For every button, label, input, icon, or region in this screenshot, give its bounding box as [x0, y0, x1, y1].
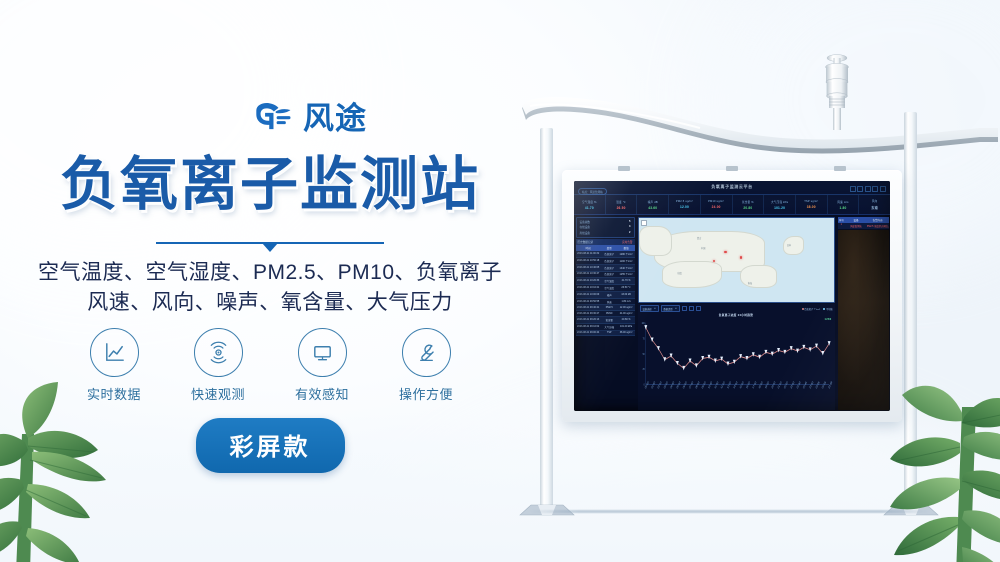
metric-card[interactable]: PM10 ug/m³ 24.00 — [701, 195, 733, 214]
metric-card[interactable]: 风向 东南 — [859, 195, 890, 214]
table-cell: 2023-08-21 10:20:33 — [576, 278, 601, 284]
svg-text:22:00: 22:00 — [783, 380, 789, 390]
ultrasonic-weather-sensor — [820, 52, 854, 132]
map-label: 南海 — [748, 281, 752, 285]
metric-value: 101.20 — [774, 206, 785, 210]
svg-text:11:00: 11:00 — [713, 380, 719, 390]
table-row[interactable]: 2023-08-21 11:00:32负氧离子1280 个/cm³ — [576, 251, 635, 258]
svg-text:100: 100 — [641, 321, 645, 325]
table-cell: 噪声 — [601, 292, 618, 298]
display-enclosure: 负氧离子监测云平台 站点：风途监测站 空气湿度 % — [562, 170, 902, 422]
support-post-right — [904, 112, 917, 506]
table-cell: 24.00 ug/m³ — [618, 311, 635, 316]
table-cell: 2023-08-21 10:30:47 — [576, 272, 601, 278]
layout-icon[interactable] — [857, 186, 863, 192]
fullscreen-icon[interactable] — [850, 186, 856, 192]
table-cell: 12.00 ug/m³ — [618, 305, 635, 310]
map-landmass-southeast — [740, 265, 777, 289]
line-chart-icon — [90, 328, 139, 377]
feature-item-effective-sensing[interactable]: 有效感知 — [283, 328, 361, 403]
table-cell: 2023-08-21 11:00:32 — [576, 251, 601, 257]
feature-item-realtime-data[interactable]: 实时数据 — [75, 328, 153, 403]
table-cell: 负氧离子 — [601, 251, 618, 257]
map-label: 日本 — [787, 243, 791, 247]
page-title: 负氧离子监测站 — [0, 155, 540, 216]
export-icon[interactable] — [689, 306, 694, 311]
table-cell: 负氧离子 — [601, 265, 618, 271]
divider-notch-icon — [262, 243, 278, 252]
model-badge-wrapper: 彩屏款 — [0, 418, 540, 473]
table-cell: 2023-08-21 09:00:44 — [576, 331, 601, 336]
svg-text:00:00: 00:00 — [644, 380, 650, 390]
feature-item-easy-operation[interactable]: 操作方便 — [387, 328, 465, 403]
header-tools — [850, 186, 886, 192]
table-row[interactable]: 2023-08-21 10:50:18负氧离子1196 个/cm³ — [576, 258, 635, 265]
metric-value: 1.80 — [839, 206, 846, 210]
metric-label: 氧含量 % — [742, 200, 754, 204]
chart-icon[interactable] — [865, 186, 871, 192]
dashboard-right-column: 序号 设备 告警内容 1 风途监测站 PM2.5 浓度超过阈值，请注意 — [836, 215, 890, 411]
stat-value: 2 — [629, 231, 630, 235]
feature-label: 快速观测 — [191, 384, 245, 403]
metric-value: 26.50 — [617, 206, 626, 210]
svg-text:04:00: 04:00 — [669, 380, 675, 390]
table-row[interactable]: 2023-08-21 10:20:33空气湿度41.70 % — [576, 278, 635, 285]
wrench-icon — [402, 328, 451, 377]
metric-card[interactable]: 空气湿度 % 41.70 — [574, 195, 606, 214]
s-curve-canopy — [500, 90, 1000, 160]
monitor-screen-icon — [298, 328, 347, 377]
hero-text-panel: 风途 负氧离子监测站 空气温度、空气湿度、PM2.5、PM10、负氧离子 风速、… — [0, 0, 540, 562]
metric-value: 20.80 — [743, 206, 752, 210]
legend-item-average: 平均值 — [823, 307, 832, 311]
svg-text:20:00: 20:00 — [770, 380, 776, 390]
svg-text:09:00: 09:00 — [700, 380, 706, 390]
stat-value: 3 — [629, 225, 630, 229]
table-cell: 2023-08-21 10:00:09 — [576, 292, 601, 298]
realtime-alarm-tag[interactable]: 实时告警 — [622, 240, 632, 244]
stat-row: 离线设备 2 — [580, 231, 631, 235]
alert-index: 1 — [838, 223, 846, 229]
device-select-label: 设备选择 — [643, 307, 652, 311]
brand-name: 风途 — [303, 103, 367, 134]
trend-line-chart: 00:0001:0002:0003:0004:0005:0006:0007:00… — [640, 318, 833, 405]
stat-value: 5 — [629, 220, 630, 224]
feature-list: 实时数据 快速观测 — [0, 328, 540, 403]
svg-text:23:45: 23:45 — [802, 380, 808, 390]
metric-label: 风速 m/s — [837, 200, 848, 204]
svg-text:50: 50 — [642, 352, 645, 356]
station-selector[interactable]: 站点：风途监测站 — [578, 188, 607, 195]
metric-card[interactable]: PM2.5 ug/m³ 12.00 — [669, 195, 701, 214]
table-cell: 2023-08-21 09:40:41 — [576, 305, 601, 310]
display-screen[interactable]: 负氧离子监测云平台 站点：风途监测站 空气湿度 % — [574, 181, 890, 411]
metric-value: 43.60 — [648, 206, 657, 210]
svg-text:13:00: 13:00 — [726, 380, 732, 390]
table-cell: 空气温度 — [601, 285, 618, 291]
chevron-down-icon: ▾ — [675, 307, 676, 311]
legend-item-series: 负氧离子 个/cm³ — [802, 307, 821, 311]
svg-text:17:00: 17:00 — [751, 380, 757, 390]
table-cell: 1.80 m/s — [618, 299, 635, 305]
table-cell: 1280 个/cm³ — [618, 251, 635, 257]
table-cell: 1340 个/cm³ — [618, 265, 635, 271]
dashboard-center-column: 中国 蒙古 印度 日本 南海 — [636, 215, 836, 411]
dashboard: 负氧离子监测云平台 站点：风途监测站 空气湿度 % — [574, 181, 890, 411]
metric-label: PM10 ug/m³ — [708, 200, 724, 203]
table-row[interactable]: 2023-08-21 10:40:05负氧离子1340 个/cm³ — [576, 265, 635, 272]
wind-leaf-g-icon — [248, 100, 296, 136]
table-cell: 20.80 % — [618, 317, 635, 323]
title-divider — [0, 240, 540, 254]
metric-label: 温度 ℃ — [616, 200, 626, 204]
feature-label: 实时数据 — [87, 384, 141, 403]
dashboard-title: 负氧离子监测云平台 — [574, 184, 890, 190]
stat-row: 设备总数 5 — [580, 220, 631, 224]
device-stats-box: 设备总数 5 在线设备 3 离线设备 2 — [576, 217, 635, 238]
svg-text:23:50: 23:50 — [808, 380, 814, 390]
svg-text:21:00: 21:00 — [776, 380, 782, 390]
table-cell: 1196 个/cm³ — [618, 258, 635, 264]
metric-card[interactable]: 温度 ℃ 26.50 — [606, 195, 638, 214]
svg-text:03:00: 03:00 — [662, 380, 668, 390]
dashboard-header: 负氧离子监测云平台 站点：风途监测站 — [574, 181, 890, 195]
chart-plot-area: 1280 00:0001:0002:0003:0004:0005:0006:00… — [638, 317, 835, 410]
station-map[interactable]: 中国 蒙古 印度 日本 南海 — [638, 217, 835, 303]
camera-feed[interactable] — [838, 230, 889, 410]
history-table: 历史数据记录 实时告警 时间 类型 数值 2023-08-21 11:00:32… — [576, 239, 635, 409]
table-cell: 2023-08-21 10:50:18 — [576, 258, 601, 264]
table-cell: TSP — [601, 331, 618, 336]
svg-text:23:59: 23:59 — [827, 380, 833, 390]
svg-text:18:00: 18:00 — [757, 380, 763, 390]
map-label: 蒙古 — [697, 236, 701, 240]
table-cell: 101.20 kPa — [618, 324, 635, 330]
table-cell: 2023-08-21 10:40:05 — [576, 265, 601, 271]
table-cell: 大气压强 — [601, 324, 618, 330]
map-landmass-india — [662, 261, 723, 288]
table-row[interactable]: 2023-08-21 10:30:47负氧离子1255 个/cm³ — [576, 272, 635, 279]
table-cell: 氧含量 — [601, 317, 618, 323]
metric-label: 风向 — [872, 199, 878, 203]
stat-row: 在线设备 3 — [580, 225, 631, 229]
mount-bracket-left — [618, 166, 630, 171]
table-cell: 1255 个/cm³ — [618, 272, 635, 278]
table-cell: 空气湿度 — [601, 278, 618, 284]
svg-text:15:00: 15:00 — [738, 380, 744, 390]
stat-label: 设备总数 — [580, 220, 590, 224]
metric-card[interactable]: 风速 m/s 1.80 — [828, 195, 860, 214]
svg-text:05:00: 05:00 — [675, 380, 681, 390]
map-pin[interactable] — [740, 256, 742, 258]
svg-text:07:00: 07:00 — [688, 380, 694, 390]
map-landmass-west — [639, 226, 672, 257]
brand-logo: 风途 — [248, 100, 367, 136]
map-pin[interactable] — [713, 260, 715, 262]
metric-label: 噪声 dB — [648, 200, 658, 204]
metric-label: 空气湿度 % — [582, 200, 597, 204]
table-cell: 风速 — [601, 299, 618, 305]
table-row[interactable]: 2023-08-21 09:20:13氧含量20.80 % — [576, 317, 635, 324]
chart-legend: 负氧离子 个/cm³ 平均值 — [802, 307, 833, 311]
subtitle-line-2: 风速、风向、噪声、氧含量、大气压力 — [0, 288, 540, 318]
map-label: 中国 — [701, 246, 705, 250]
subtitle-line-1: 空气温度、空气湿度、PM2.5、PM10、负氧离子 — [0, 258, 540, 288]
stat-label: 在线设备 — [580, 225, 590, 229]
svg-text:12:00: 12:00 — [719, 380, 725, 390]
table-cell: 26.50 ℃ — [618, 285, 635, 291]
table-cell: 2023-08-21 09:30:27 — [576, 311, 601, 316]
user-icon[interactable] — [880, 186, 886, 192]
metric-label: PM2.5 ug/m³ — [676, 200, 693, 203]
metric-card[interactable]: TSP ug/m³ 38.00 — [796, 195, 828, 214]
table-cell: 43.60 dB — [618, 292, 635, 298]
svg-text:06:00: 06:00 — [681, 380, 687, 390]
ground-shadow-line — [530, 510, 930, 513]
svg-text:16:00: 16:00 — [745, 380, 751, 390]
model-badge[interactable]: 彩屏款 — [196, 418, 345, 473]
metric-value: 12.00 — [680, 205, 689, 209]
svg-text:19:00: 19:00 — [764, 380, 770, 390]
table-row[interactable]: 2023-08-21 10:10:21空气温度26.50 ℃ — [576, 285, 635, 292]
radar-scan-icon — [194, 328, 243, 377]
alert-row[interactable]: 1 风途监测站 PM2.5 浓度超过阈值，请注意 — [838, 223, 889, 229]
trend-chart-panel: 设备选择 ▾ 数据类型 ▾ — [638, 304, 835, 410]
chevron-down-icon: ▾ — [654, 307, 655, 311]
mount-bracket-center — [726, 166, 738, 171]
alert-device: 风途监测站 — [845, 223, 867, 229]
feature-label: 有效感知 — [295, 384, 349, 403]
datatype-select[interactable]: 数据类型 ▾ — [661, 305, 680, 312]
table-cell: 2023-08-21 10:10:21 — [576, 285, 601, 291]
map-zoom-icon[interactable] — [641, 220, 647, 226]
metric-card[interactable]: 氧含量 % 20.80 — [733, 195, 765, 214]
map-label: 印度 — [678, 271, 682, 275]
metric-label: TSP ug/m³ — [804, 200, 818, 203]
svg-text:23:30: 23:30 — [795, 380, 801, 390]
alarm-icon[interactable] — [872, 186, 878, 192]
table-cell: 38.00 ug/m³ — [618, 331, 635, 336]
datatype-select-label: 数据类型 — [664, 307, 673, 311]
table-row[interactable]: 2023-08-21 09:50:55风速1.80 m/s — [576, 299, 635, 306]
metric-label: 大气压强 kPa — [771, 200, 788, 204]
table-row[interactable]: 2023-08-21 09:10:02大气压强101.20 kPa — [576, 324, 635, 331]
dashboard-left-column: 设备总数 5 在线设备 3 离线设备 2 — [574, 215, 636, 411]
table-title: 历史数据记录 — [578, 240, 594, 244]
dashboard-body: 设备总数 5 在线设备 3 离线设备 2 — [574, 215, 890, 411]
feature-item-fast-observation[interactable]: 快速观测 — [179, 328, 257, 403]
svg-text:25: 25 — [642, 368, 645, 372]
table-cell: 2023-08-21 09:50:55 — [576, 299, 601, 305]
chart-controls: 设备选择 ▾ 数据类型 ▾ — [638, 304, 835, 313]
table-row[interactable]: 2023-08-21 10:00:09噪声43.60 dB — [576, 292, 635, 299]
table-cell: PM2.5 — [601, 305, 618, 310]
table-cell: 负氧离子 — [601, 258, 618, 264]
svg-text:10:00: 10:00 — [707, 380, 713, 390]
svg-text:23:00: 23:00 — [789, 380, 795, 390]
table-row[interactable]: 2023-08-21 09:00:44TSP38.00 ug/m³ — [576, 331, 635, 337]
chart-readout: 1280 — [825, 318, 832, 321]
subtitle: 空气温度、空气湿度、PM2.5、PM10、负氧离子 风速、风向、噪声、氧含量、大… — [0, 258, 540, 319]
svg-text:23:55: 23:55 — [814, 380, 820, 390]
alert-table: 序号 设备 告警内容 1 风途监测站 PM2.5 浓度超过阈值，请注意 — [838, 217, 889, 229]
table-cell: 2023-08-21 09:20:13 — [576, 317, 601, 323]
support-post-left — [540, 128, 553, 506]
alert-message: PM2.5 浓度超过阈值，请注意 — [867, 223, 889, 229]
refresh-icon[interactable] — [682, 306, 687, 311]
svg-text:02:00: 02:00 — [656, 380, 662, 390]
table-cell: 负氧离子 — [601, 272, 618, 278]
metric-value: 41.70 — [585, 206, 594, 210]
monitoring-station-product: 负氧离子监测云平台 站点：风途监测站 空气湿度 % — [500, 40, 1000, 540]
metric-value: 38.00 — [807, 205, 816, 209]
table-cell: PM10 — [601, 311, 618, 316]
svg-text:01:00: 01:00 — [650, 380, 656, 390]
metric-value: 24.00 — [712, 205, 721, 209]
stat-label: 离线设备 — [580, 231, 590, 235]
table-cell: 41.70 % — [618, 278, 635, 284]
promo-poster: 风途 负氧离子监测站 空气温度、空气湿度、PM2.5、PM10、负氧离子 风速、… — [0, 0, 1000, 562]
device-select[interactable]: 设备选择 ▾ — [640, 305, 659, 312]
svg-text:08:00: 08:00 — [694, 380, 700, 390]
settings-icon[interactable] — [696, 306, 701, 311]
metric-card[interactable]: 噪声 dB 43.60 — [637, 195, 669, 214]
metric-card[interactable]: 大气压强 kPa 101.20 — [764, 195, 796, 214]
metric-card-row: 空气湿度 % 41.70 温度 ℃ 26.50 噪声 dB 43.60 PM — [574, 195, 890, 215]
svg-text:14:00: 14:00 — [732, 380, 738, 390]
mount-bracket-right — [834, 166, 846, 171]
svg-text:75: 75 — [642, 337, 645, 341]
svg-text:23:58: 23:58 — [821, 380, 827, 390]
metric-value: 东南 — [871, 205, 878, 210]
table-body: 2023-08-21 11:00:32负氧离子1280 个/cm³2023-08… — [576, 251, 635, 336]
feature-label: 操作方便 — [399, 384, 453, 403]
table-cell: 2023-08-21 09:10:02 — [576, 324, 601, 330]
